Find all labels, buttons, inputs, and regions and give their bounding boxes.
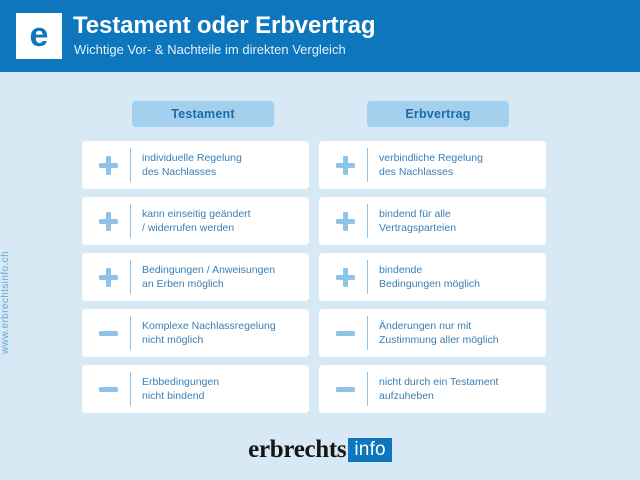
row-text-line-1: nicht durch ein Testament <box>379 375 498 389</box>
row-text: Bedingungen / Anweisungen an Erben mögli… <box>131 263 281 291</box>
row-text-line-1: kann einseitig geändert <box>142 207 251 221</box>
table-row: individuelle Regelung des Nachlasses <box>82 141 309 189</box>
footer-brand-tag: info <box>348 438 391 462</box>
table-row: bindende Bedingungen möglich <box>319 253 546 301</box>
table-row: nicht durch ein Testament aufzuheben <box>319 365 546 413</box>
row-text-line-2: des Nachlasses <box>379 165 483 179</box>
row-text-line-1: Komplexe Nachlassregelung <box>142 319 276 333</box>
column-erbvertrag: verbindliche Regelung des Nachlasses bin… <box>319 141 546 423</box>
plus-icon <box>323 268 367 287</box>
plus-icon <box>86 156 130 175</box>
row-text-line-1: Änderungen nur mit <box>379 319 499 333</box>
row-text-line-2: des Nachlasses <box>142 165 242 179</box>
table-row: Komplexe Nachlassregelung nicht möglich <box>82 309 309 357</box>
row-text: bindend für alle Vertragsparteien <box>368 207 462 235</box>
row-text: Änderungen nur mit Zustimmung aller mögl… <box>368 319 505 347</box>
footer-brand-word: erbrechts <box>248 437 346 462</box>
minus-icon <box>323 331 367 336</box>
table-row: kann einseitig geändert / widerrufen wer… <box>82 197 309 245</box>
page-header: e Testament oder Erbvertrag Wichtige Vor… <box>0 0 640 72</box>
column-testament: individuelle Regelung des Nachlasses kan… <box>82 141 309 423</box>
footer-brand-logo: erbrechts info <box>0 437 640 462</box>
table-row: verbindliche Regelung des Nachlasses <box>319 141 546 189</box>
sidebar-website-url: www.erbrechtsinfo.ch <box>0 204 11 354</box>
row-text: Erbbedingungen nicht bindend <box>131 375 225 403</box>
column-header-erbvertrag: Erbvertrag <box>367 101 509 127</box>
row-text-line-2: Zustimmung aller möglich <box>379 333 499 347</box>
plus-icon <box>86 268 130 287</box>
table-row: Erbbedingungen nicht bindend <box>82 365 309 413</box>
minus-icon <box>323 387 367 392</box>
row-text-line-2: nicht bindend <box>142 389 219 403</box>
row-text-line-1: Bedingungen / Anweisungen <box>142 263 275 277</box>
row-text-line-2: Vertragsparteien <box>379 221 456 235</box>
row-text-line-1: bindend für alle <box>379 207 456 221</box>
row-text: verbindliche Regelung des Nachlasses <box>368 151 489 179</box>
table-row: bindend für alle Vertragsparteien <box>319 197 546 245</box>
row-text: kann einseitig geändert / widerrufen wer… <box>131 207 257 235</box>
plus-icon <box>323 212 367 231</box>
page-subtitle: Wichtige Vor- & Nachteile im direkten Ve… <box>74 42 346 57</box>
row-text: Komplexe Nachlassregelung nicht möglich <box>131 319 282 347</box>
row-text-line-2: an Erben möglich <box>142 277 275 291</box>
page-title: Testament oder Erbvertrag <box>73 12 375 40</box>
plus-icon <box>323 156 367 175</box>
comparison-table: individuelle Regelung des Nachlasses kan… <box>82 141 546 423</box>
brand-logo-letter: e <box>30 18 49 52</box>
row-text: bindende Bedingungen möglich <box>368 263 486 291</box>
minus-icon <box>86 331 130 336</box>
row-text-line-1: individuelle Regelung <box>142 151 242 165</box>
row-text-line-2: aufzuheben <box>379 389 498 403</box>
brand-logo: e <box>16 13 62 59</box>
column-header-testament: Testament <box>132 101 274 127</box>
table-row: Änderungen nur mit Zustimmung aller mögl… <box>319 309 546 357</box>
row-text-line-1: verbindliche Regelung <box>379 151 483 165</box>
plus-icon <box>86 212 130 231</box>
row-text-line-2: Bedingungen möglich <box>379 277 480 291</box>
row-text: individuelle Regelung des Nachlasses <box>131 151 248 179</box>
comparison-column-headers: Testament Erbvertrag <box>82 101 546 127</box>
row-text: nicht durch ein Testament aufzuheben <box>368 375 504 403</box>
row-text-line-1: bindende <box>379 263 480 277</box>
row-text-line-2: nicht möglich <box>142 333 276 347</box>
table-row: Bedingungen / Anweisungen an Erben mögli… <box>82 253 309 301</box>
row-text-line-2: / widerrufen werden <box>142 221 251 235</box>
minus-icon <box>86 387 130 392</box>
row-text-line-1: Erbbedingungen <box>142 375 219 389</box>
